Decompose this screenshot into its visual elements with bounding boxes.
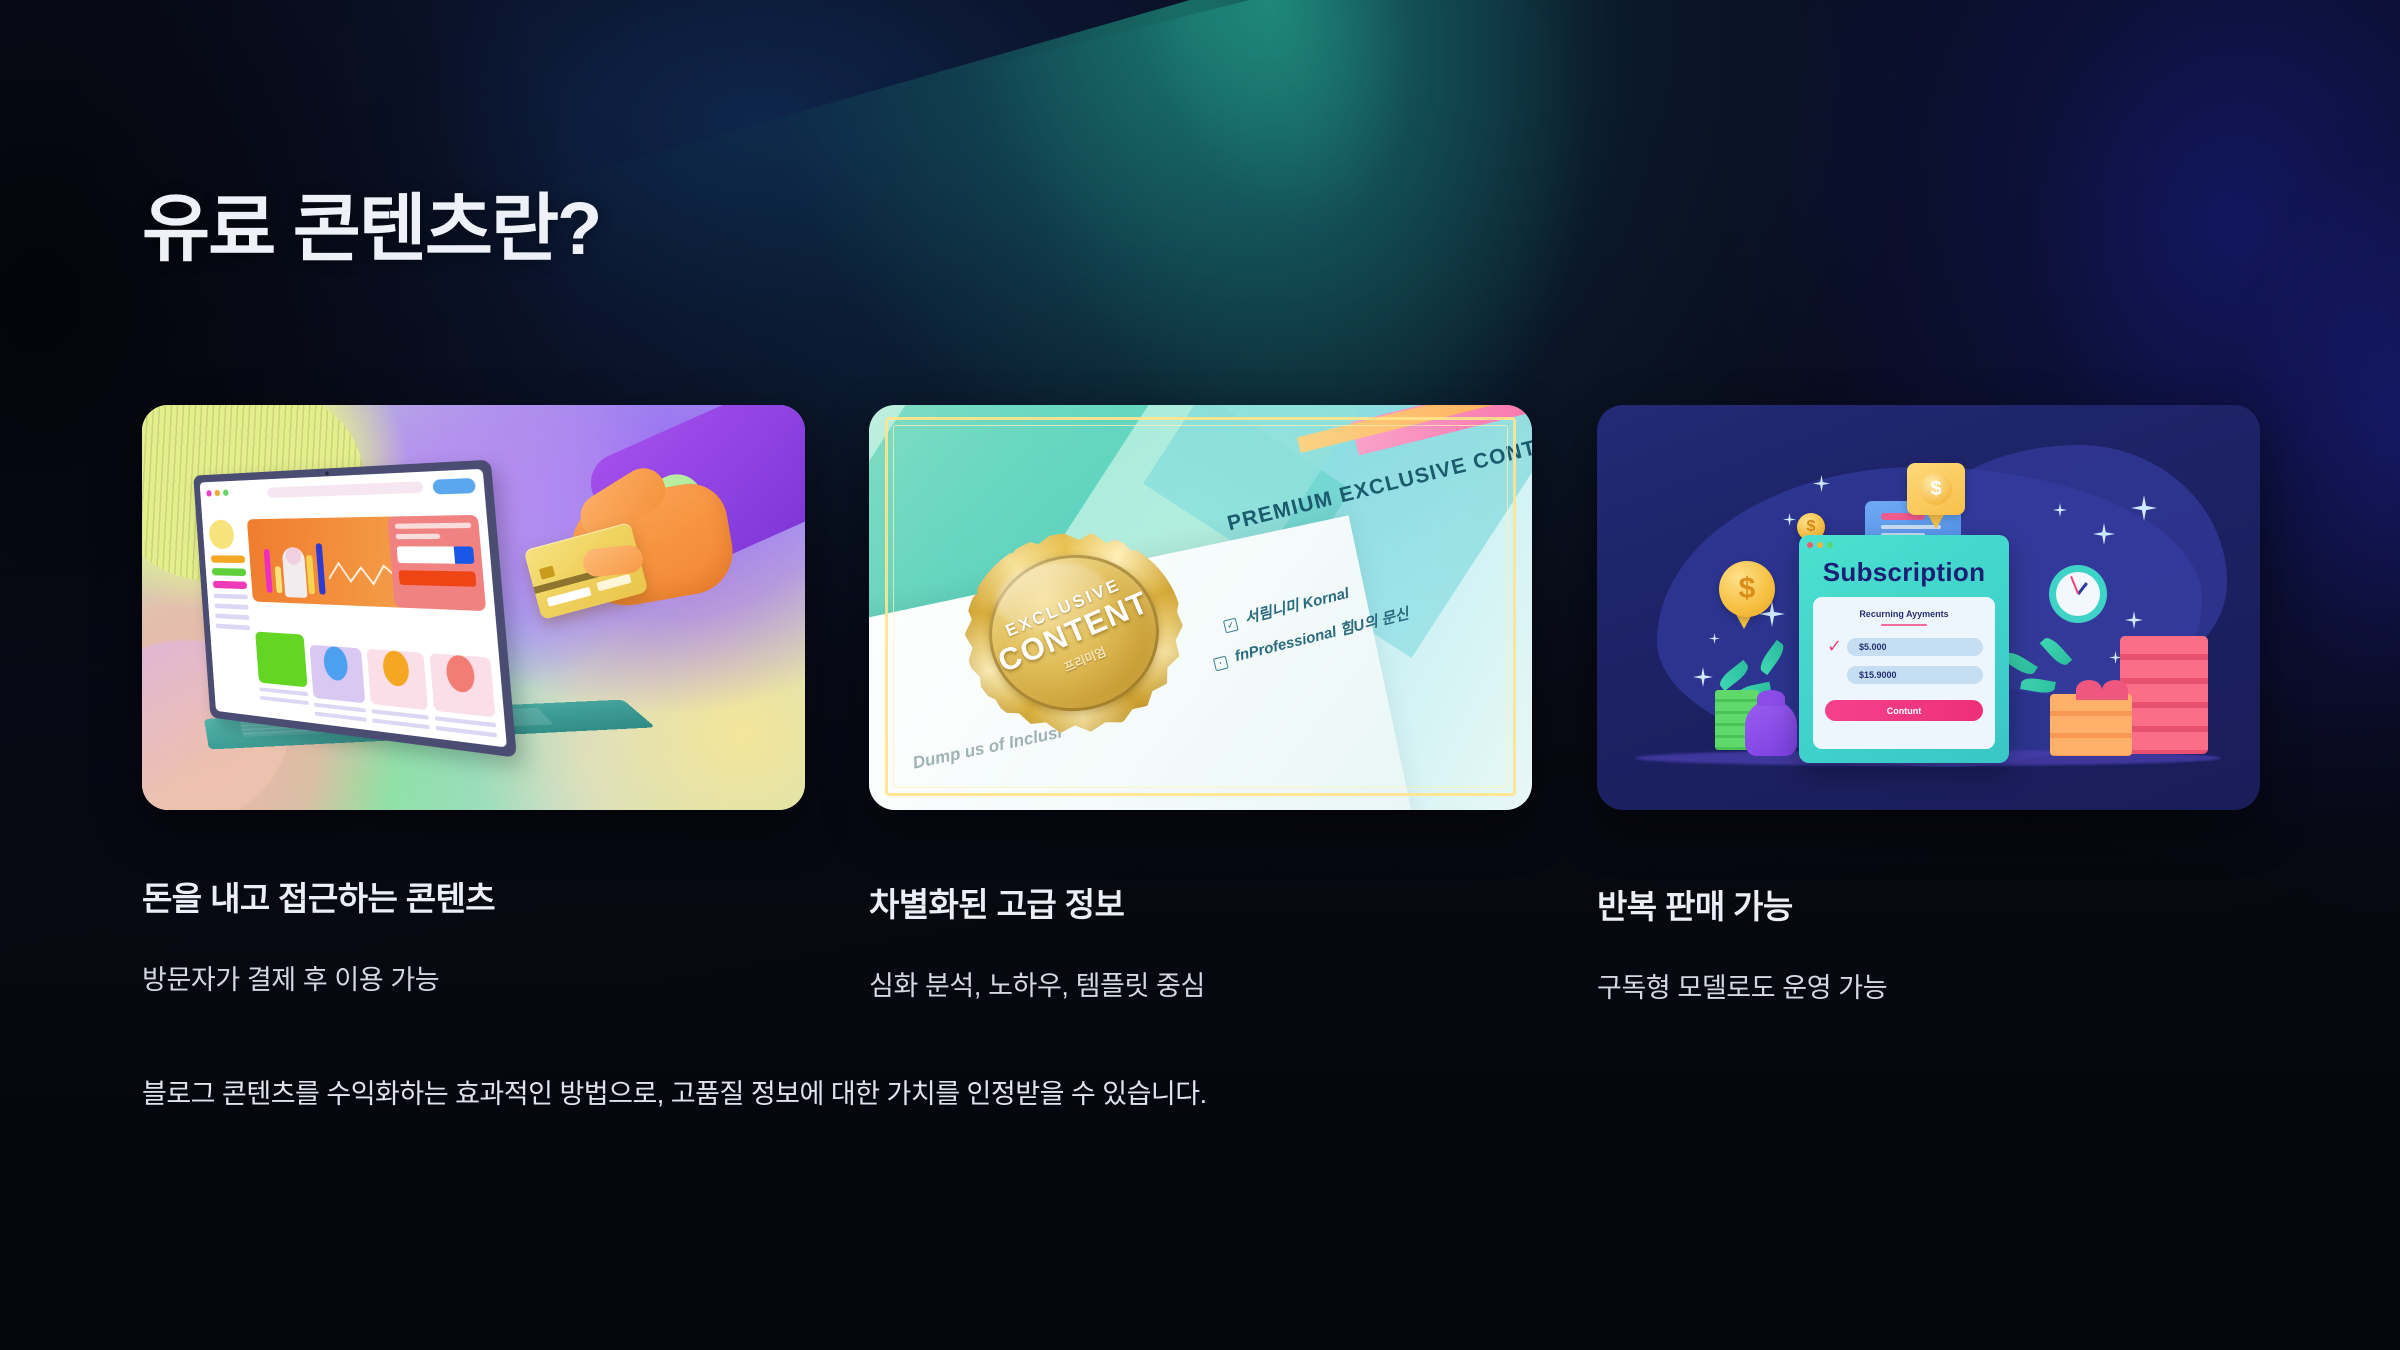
card-image-premium-info[interactable]: PREMIUM EXCLUSIVE CONTENT ✓서림니미 Kornal ·…	[869, 405, 1532, 810]
card-subtext: 심화 분석, 노하우, 템플릿 중심	[869, 964, 1205, 1003]
gift-box-icon	[2050, 694, 2132, 756]
window-dots-icon	[1807, 542, 1833, 548]
caption-premium-info: 차별화된 고급 정보 심화 분석, 노하우, 템플릿 중심	[869, 878, 1205, 1003]
caption-recurring-sales: 반복 판매 가능 구독형 모델로도 운영 가능	[1597, 880, 1887, 1005]
money-bubble-pointer	[1927, 513, 1945, 529]
laptop-screen	[200, 469, 507, 748]
card-chip-icon	[539, 566, 555, 580]
browser-address-bar	[267, 481, 423, 498]
screen-side-panel	[387, 515, 486, 611]
card-heading: 돈을 내고 접근하는 콘텐츠	[142, 872, 495, 920]
money-dollar-icon: $	[1920, 473, 1952, 505]
webcam-icon	[325, 471, 329, 475]
card2-gold-frame-inner	[893, 425, 1508, 788]
panel-divider	[1881, 624, 1927, 626]
hand-illustration	[489, 463, 805, 653]
card-grid: PREMIUM EXCLUSIVE CONTENT ✓서림니미 Kornal ·…	[142, 405, 2260, 810]
browser-action-button	[432, 478, 476, 495]
plan-selected-check-icon: ✓	[1827, 637, 1842, 655]
card-image-paid-access[interactable]	[142, 405, 805, 810]
money-sack-icon	[1745, 700, 1797, 756]
plan-option-2-price: $15.9000	[1859, 670, 1897, 680]
card-heading: 반복 판매 가능	[1597, 880, 1887, 928]
page-title: 유료 콘텐츠란?	[142, 192, 600, 266]
gift-ribbon-right	[2102, 680, 2128, 700]
clock-icon	[2049, 565, 2107, 623]
subscription-window[interactable]: Subscription Recurning Ayyments ✓ $5.000…	[1799, 535, 2009, 763]
screen-sidebar	[208, 519, 250, 636]
plan-option-2[interactable]: $15.9000	[1847, 666, 1983, 684]
money-bubble-icon: $	[1907, 463, 1965, 515]
card-subtext: 구독형 모델로도 운영 가능	[1597, 966, 1887, 1005]
gift-ribbon-left	[2076, 680, 2102, 700]
screen-tile-row	[255, 632, 497, 738]
sidebar-avatar	[208, 520, 235, 549]
card-heading: 차별화된 고급 정보	[869, 878, 1205, 926]
page-footnote: 블로그 콘텐츠를 수익화하는 효과적인 방법으로, 고품질 정보에 대한 가치를…	[142, 1072, 1207, 1111]
coin-stack-pink-icon	[2120, 636, 2208, 754]
plan-option-1[interactable]: ✓ $5.000	[1847, 638, 1983, 656]
card-subtext: 방문자가 결제 후 이용 가능	[142, 958, 495, 997]
subscription-panel: Recurning Ayyments ✓ $5.000 $15.9000 Con…	[1813, 597, 1995, 749]
plan-option-1-price: $5.000	[1859, 642, 1887, 652]
card-image-recurring-sales[interactable]: $ $ $ Subscription Recurning Ayyments	[1597, 405, 2260, 810]
laptop-lid	[193, 460, 517, 758]
screen-line-chart	[327, 557, 397, 589]
subscription-title: Subscription	[1799, 557, 2009, 588]
coin-icon-large: $	[1719, 561, 1775, 617]
caption-paid-access: 돈을 내고 접근하는 콘텐츠 방문자가 결제 후 이용 가능	[142, 872, 495, 997]
recurring-payments-label: Recurning Ayyments	[1825, 609, 1983, 619]
subscription-confirm-button[interactable]: Contunt	[1825, 700, 1983, 721]
